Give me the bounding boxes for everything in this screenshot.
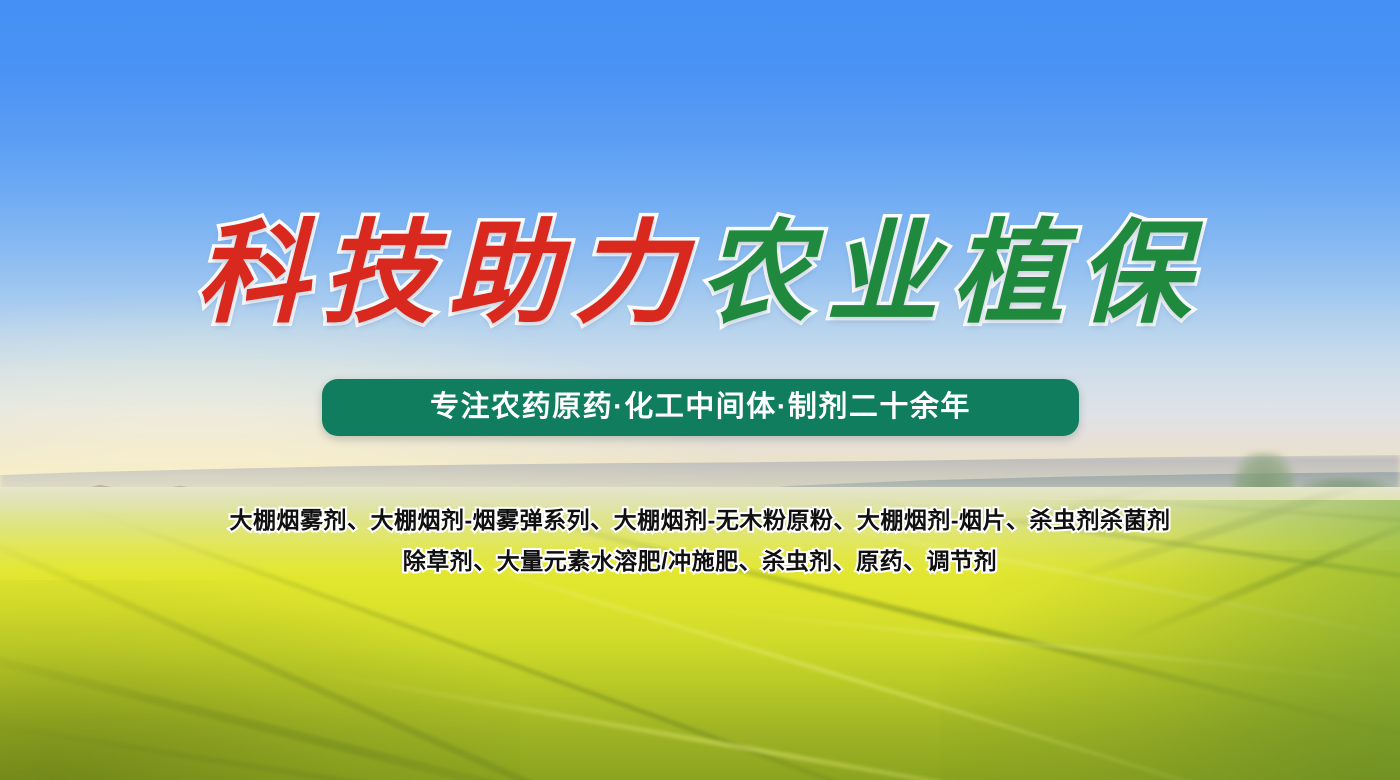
headline-red-text: 科技助力	[196, 213, 700, 337]
product-list: 大棚烟雾剂、大棚烟剂-烟雾弹系列、大棚烟剂-无木粉原粉、大棚烟剂-烟片、杀虫剂杀…	[0, 500, 1400, 582]
hero-headline: 科技助力农业植保	[0, 206, 1400, 345]
hero-banner: 科技助力农业植保 专注农药原药·化工中间体·制剂二十余年 大棚烟雾剂、大棚烟剂-…	[0, 0, 1400, 780]
product-line-1: 大棚烟雾剂、大棚烟剂-烟雾弹系列、大棚烟剂-无木粉原粉、大棚烟剂-烟片、杀虫剂杀…	[0, 500, 1400, 541]
headline-green-text: 农业植保	[700, 213, 1204, 337]
subtitle-text: 专注农药原药·化工中间体·制剂二十余年	[430, 393, 971, 422]
product-line-2: 除草剂、大量元素水溶肥/冲施肥、杀虫剂、原药、调节剂	[0, 541, 1400, 582]
subtitle-pill: 专注农药原药·化工中间体·制剂二十余年	[322, 379, 1079, 436]
